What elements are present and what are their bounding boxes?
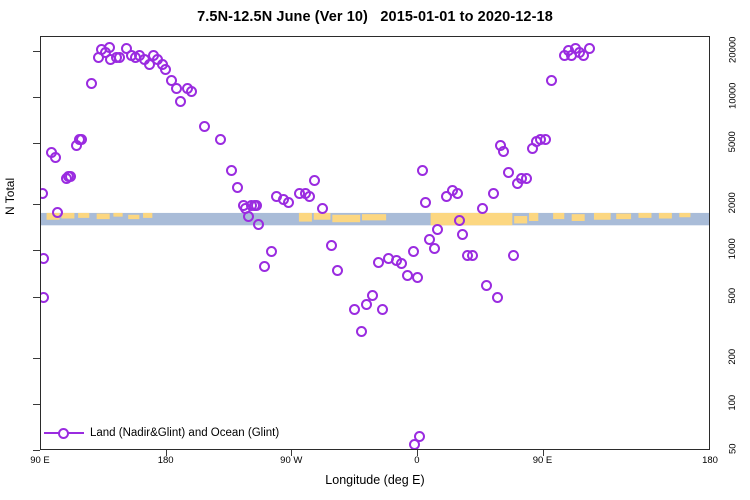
scatter-point (457, 229, 468, 240)
scatter-point (50, 152, 61, 163)
land-segment (78, 213, 89, 218)
land-segment (143, 213, 152, 218)
land-segment (514, 216, 527, 223)
scatter-point (349, 304, 360, 315)
scatter-point (477, 203, 488, 214)
scatter-point (86, 78, 97, 89)
x-tick-mark (166, 450, 167, 456)
scatter-point (454, 215, 465, 226)
y-tick-mark (33, 297, 40, 298)
y-tick-label: 5000 (716, 137, 750, 147)
land-segment (572, 214, 585, 221)
land-segment (679, 213, 690, 217)
x-tick-label: 90 W (261, 455, 321, 466)
scatter-point (52, 207, 63, 218)
scatter-point (412, 272, 423, 283)
x-tick-mark (543, 450, 544, 456)
y-tick-label: 200 (716, 352, 750, 362)
y-tick-label: 20000 (716, 45, 750, 55)
land-segment (128, 215, 139, 219)
x-axis-title: Longitude (deg E) (40, 473, 710, 487)
y-tick-mark (33, 404, 40, 405)
scatter-point (356, 326, 367, 337)
ocean-fill (41, 213, 709, 225)
scatter-point (361, 299, 372, 310)
scatter-point (408, 246, 419, 257)
scatter-point (40, 253, 49, 264)
land-segment (431, 213, 513, 225)
scatter-point (232, 182, 243, 193)
scatter-point (332, 265, 343, 276)
scatter-point (186, 86, 197, 97)
scatter-point (467, 250, 478, 261)
scatter-point (367, 290, 378, 301)
y-axis-title: N Total (3, 199, 17, 215)
scatter-point (76, 134, 87, 145)
scatter-point (160, 64, 171, 75)
scatter-point (104, 42, 115, 53)
scatter-point (417, 165, 428, 176)
y-tick-label: 100 (716, 398, 750, 408)
land-segment (97, 214, 110, 220)
scatter-point (215, 134, 226, 145)
scatter-point (481, 280, 492, 291)
scatter-point (304, 191, 315, 202)
scatter-point (175, 96, 186, 107)
legend: Land (Nadir&Glint) and Ocean (Glint) (44, 426, 279, 440)
plot-area (40, 36, 710, 450)
scatter-point (409, 439, 420, 450)
scatter-point (429, 243, 440, 254)
scatter-point (488, 188, 499, 199)
scatter-point (373, 257, 384, 268)
scatter-point (283, 197, 294, 208)
scatter-point (396, 258, 407, 269)
scatter-point (171, 83, 182, 94)
land-segment (594, 213, 611, 220)
land-segment (553, 213, 564, 219)
land-segment (362, 214, 386, 220)
scatter-point (253, 219, 264, 230)
circle-marker-icon (44, 426, 84, 440)
scatter-point (40, 292, 49, 303)
x-tick-label: 90 E (513, 455, 573, 466)
land-segment (616, 214, 631, 220)
land-segment (332, 215, 360, 222)
x-tick-label: 90 E (10, 455, 70, 466)
scatter-point (503, 167, 514, 178)
x-tick-mark (291, 450, 292, 456)
y-tick-label: 500 (716, 291, 750, 301)
scatter-point (40, 188, 48, 199)
land-segment (113, 213, 122, 217)
scatter-point (199, 121, 210, 132)
y-tick-label: 50 (716, 444, 750, 454)
y-tick-mark (33, 143, 40, 144)
land-segment (61, 213, 74, 219)
y-tick-mark (33, 51, 40, 52)
scatter-point (540, 134, 551, 145)
land-segment (529, 213, 538, 221)
y-tick-mark (33, 250, 40, 251)
world-map-band (41, 37, 709, 449)
scatter-point (420, 197, 431, 208)
y-tick-mark (33, 358, 40, 359)
scatter-point (317, 203, 328, 214)
scatter-point (432, 224, 443, 235)
chart-root: 7.5N-12.5N June (Ver 10) 2015-01-01 to 2… (0, 0, 750, 500)
y-tick-label: 1000 (716, 244, 750, 254)
x-tick-label: 180 (680, 455, 740, 466)
scatter-point (326, 240, 337, 251)
scatter-point (251, 200, 262, 211)
x-tick-label: 0 (387, 455, 447, 466)
scatter-point (65, 171, 76, 182)
scatter-point (508, 250, 519, 261)
scatter-point (309, 175, 320, 186)
y-tick-mark (33, 450, 40, 451)
scatter-point (377, 304, 388, 315)
x-tick-label: 180 (136, 455, 196, 466)
scatter-point (521, 173, 532, 184)
y-tick-label: 10000 (716, 91, 750, 101)
scatter-point (492, 292, 503, 303)
legend-label: Land (Nadir&Glint) and Ocean (Glint) (90, 427, 279, 439)
scatter-point (498, 146, 509, 157)
scatter-point (584, 43, 595, 54)
scatter-point (226, 165, 237, 176)
scatter-point (452, 188, 463, 199)
x-tick-mark (417, 450, 418, 456)
scatter-point (266, 246, 277, 257)
land-segment (299, 213, 312, 222)
page-title: 7.5N-12.5N June (Ver 10) 2015-01-01 to 2… (0, 9, 750, 25)
y-tick-mark (33, 204, 40, 205)
scatter-point (546, 75, 557, 86)
land-segment (659, 213, 672, 219)
y-tick-label: 2000 (716, 198, 750, 208)
scatter-point (243, 211, 254, 222)
y-axis-title-wrapper: N Total (2, 200, 18, 216)
land-segment (638, 213, 651, 218)
scatter-point (259, 261, 270, 272)
y-tick-mark (33, 97, 40, 98)
